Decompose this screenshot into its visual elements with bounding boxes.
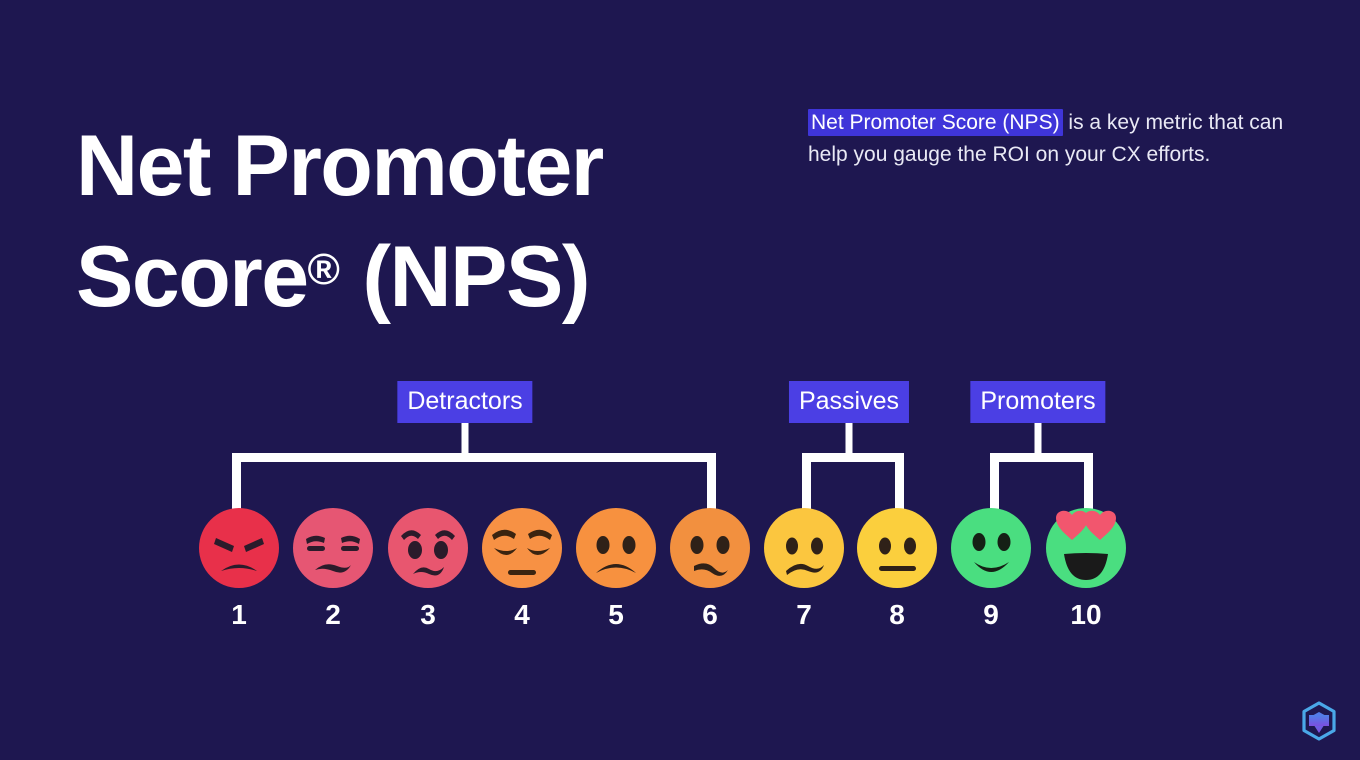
scale-item-7[interactable]: 7 bbox=[764, 508, 844, 630]
scale-number-5: 5 bbox=[576, 600, 656, 630]
scale-item-4[interactable]: 4 bbox=[482, 508, 562, 630]
nps-scale-diagram: DetractorsPassivesPromoters12345678910 bbox=[0, 0, 1360, 760]
confused-face-icon[interactable] bbox=[764, 508, 844, 588]
scale-item-5[interactable]: 5 bbox=[576, 508, 656, 630]
scale-number-9: 9 bbox=[951, 600, 1031, 630]
smiling-face-icon[interactable] bbox=[951, 508, 1031, 588]
bracket-passives bbox=[802, 453, 904, 512]
scale-number-10: 10 bbox=[1046, 600, 1126, 630]
scale-item-10[interactable]: 10 bbox=[1046, 508, 1126, 630]
scale-number-7: 7 bbox=[764, 600, 844, 630]
hexagon-cube-logo bbox=[1296, 698, 1342, 744]
worried-face-icon[interactable] bbox=[388, 508, 468, 588]
scale-item-1[interactable]: 1 bbox=[199, 508, 279, 630]
scale-number-2: 2 bbox=[293, 600, 373, 630]
group-label-passives[interactable]: Passives bbox=[789, 381, 909, 423]
bracket-promoters bbox=[990, 453, 1093, 512]
bracket-stem-passives bbox=[846, 423, 853, 453]
scale-number-1: 1 bbox=[199, 600, 279, 630]
group-label-promoters[interactable]: Promoters bbox=[970, 381, 1105, 423]
neutral-face-icon[interactable] bbox=[857, 508, 937, 588]
bracket-stem-promoters bbox=[1035, 423, 1042, 453]
pensive-face-icon[interactable] bbox=[482, 508, 562, 588]
unamused-face-icon[interactable] bbox=[293, 508, 373, 588]
angry-face-icon[interactable] bbox=[199, 508, 279, 588]
bracket-detractors bbox=[232, 453, 716, 512]
scale-item-6[interactable]: 6 bbox=[670, 508, 750, 630]
bracket-stem-detractors bbox=[462, 423, 469, 453]
scale-number-3: 3 bbox=[388, 600, 468, 630]
slight-frown-face-icon[interactable] bbox=[670, 508, 750, 588]
scale-item-2[interactable]: 2 bbox=[293, 508, 373, 630]
scale-item-8[interactable]: 8 bbox=[857, 508, 937, 630]
group-label-detractors[interactable]: Detractors bbox=[397, 381, 532, 423]
frowning-face-icon[interactable] bbox=[576, 508, 656, 588]
scale-item-3[interactable]: 3 bbox=[388, 508, 468, 630]
heart-eyes-face-icon[interactable] bbox=[1046, 508, 1126, 588]
scale-number-6: 6 bbox=[670, 600, 750, 630]
scale-number-4: 4 bbox=[482, 600, 562, 630]
scale-number-8: 8 bbox=[857, 600, 937, 630]
scale-item-9[interactable]: 9 bbox=[951, 508, 1031, 630]
